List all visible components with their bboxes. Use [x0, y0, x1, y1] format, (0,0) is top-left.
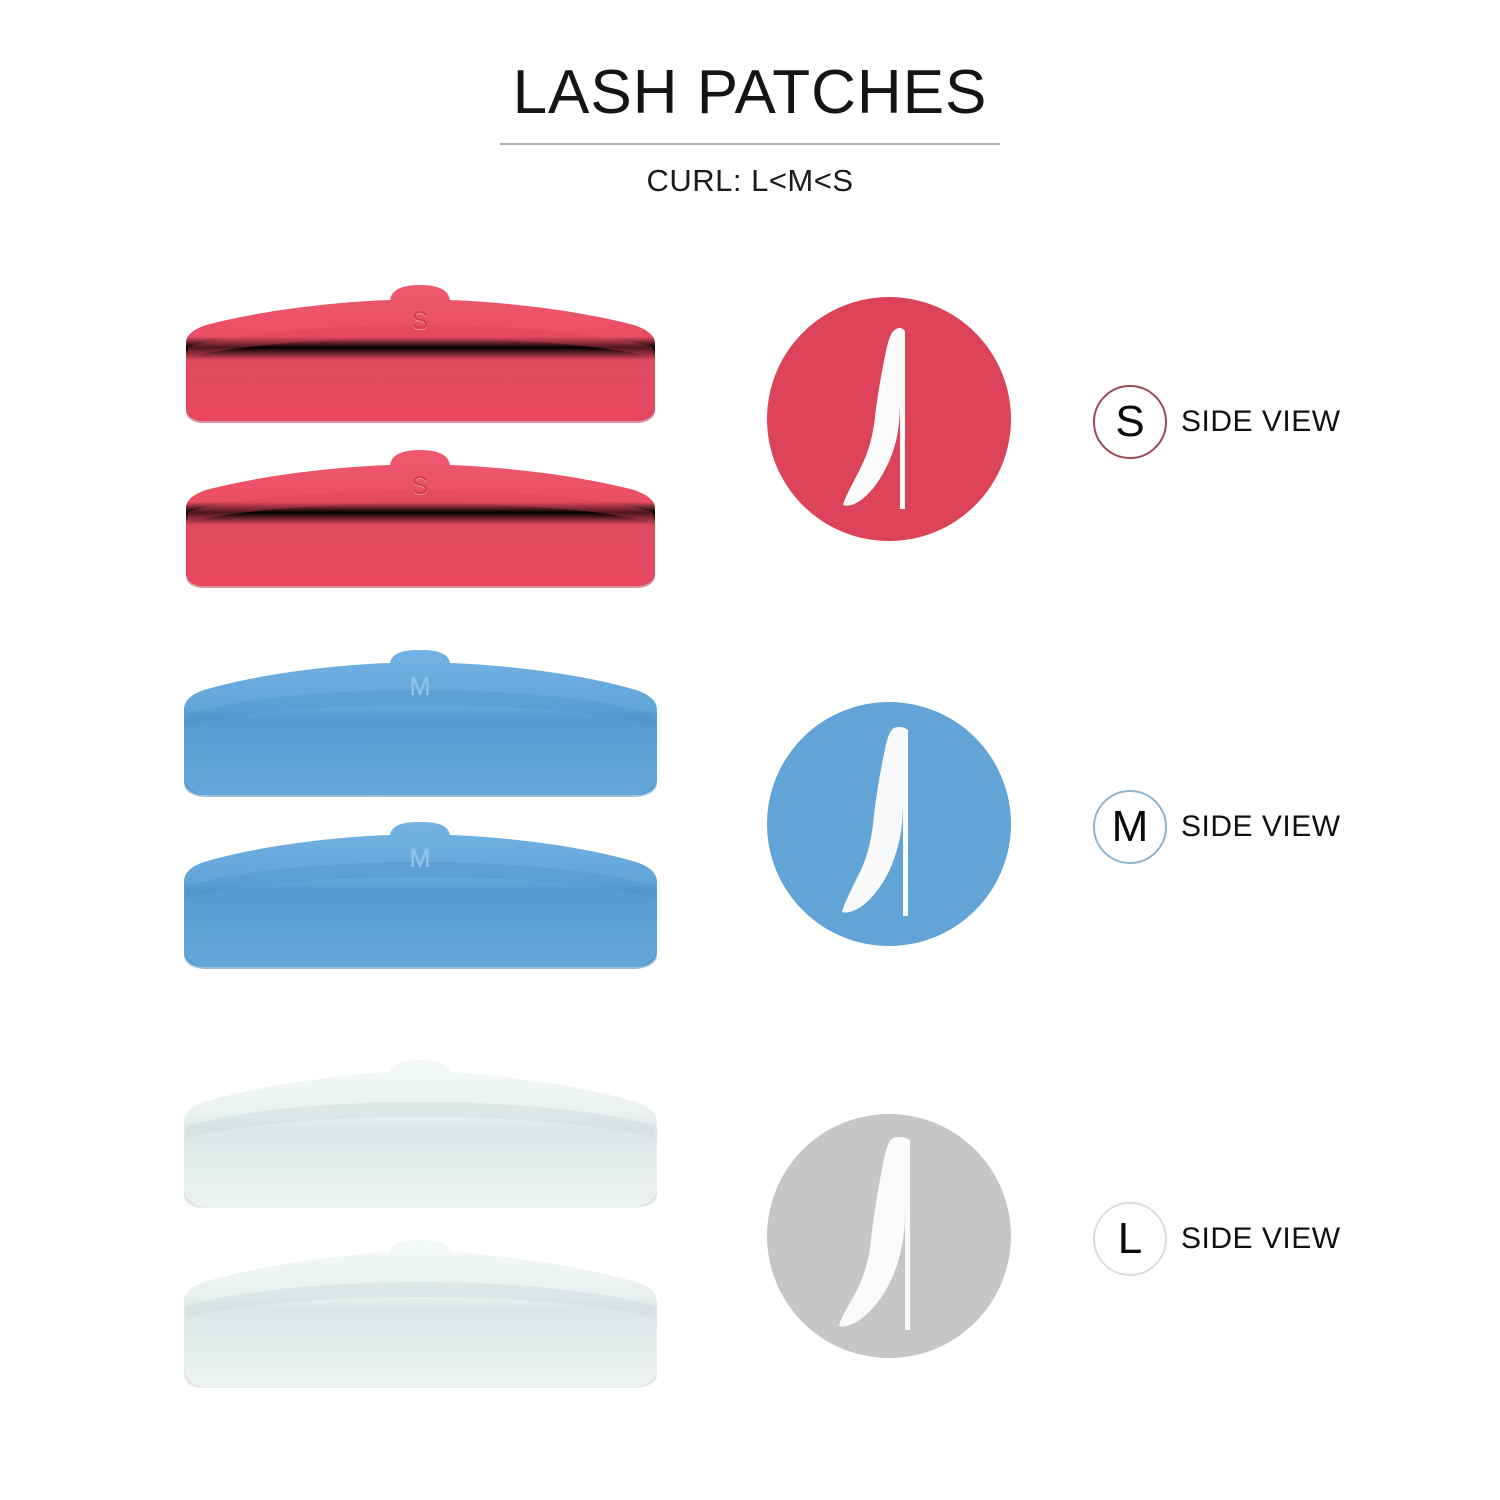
lash-pad-l-top — [178, 1060, 663, 1208]
size-badge-l: L — [1093, 1202, 1167, 1276]
side-view-label-l: SIDE VIEW — [1181, 1222, 1341, 1256]
size-badge-m: M — [1093, 790, 1167, 864]
page-title: LASH PATCHES — [0, 60, 1500, 125]
badge-block-m: M SIDE VIEW — [1093, 790, 1341, 864]
pad-group-s: S S — [178, 285, 678, 615]
lash-pad-m-bottom: M — [178, 822, 663, 970]
size-badge-letter: L — [1118, 1217, 1142, 1261]
size-badge-s: S — [1093, 385, 1167, 459]
lash-pad-s-bottom: S — [178, 450, 663, 590]
pad-group-m: M M — [178, 650, 678, 980]
side-view-label-m: SIDE VIEW — [1181, 810, 1341, 844]
title-divider — [500, 143, 1000, 145]
side-profile-circle-m — [765, 700, 1013, 948]
curl-subtitle: CURL: L<M<S — [0, 163, 1500, 199]
size-row-s: S S S SIDE VIEW — [0, 285, 1500, 615]
size-row-l: L SIDE VIEW — [0, 1060, 1500, 1390]
lash-pad-l-bottom — [178, 1240, 663, 1388]
badge-block-s: S SIDE VIEW — [1093, 385, 1341, 459]
side-profile-circle-l — [765, 1112, 1013, 1360]
lash-pad-m-top: M — [178, 650, 663, 798]
side-profile-circle-s — [765, 295, 1013, 543]
size-badge-letter: M — [1112, 805, 1149, 849]
lash-pad-s-top: S — [178, 285, 663, 425]
size-badge-letter: S — [1115, 400, 1144, 444]
side-view-label-s: SIDE VIEW — [1181, 405, 1341, 439]
pad-group-l — [178, 1060, 678, 1390]
header: LASH PATCHES CURL: L<M<S — [0, 60, 1500, 199]
badge-block-l: L SIDE VIEW — [1093, 1202, 1341, 1276]
size-row-m: M M M SIDE VIEW — [0, 650, 1500, 980]
